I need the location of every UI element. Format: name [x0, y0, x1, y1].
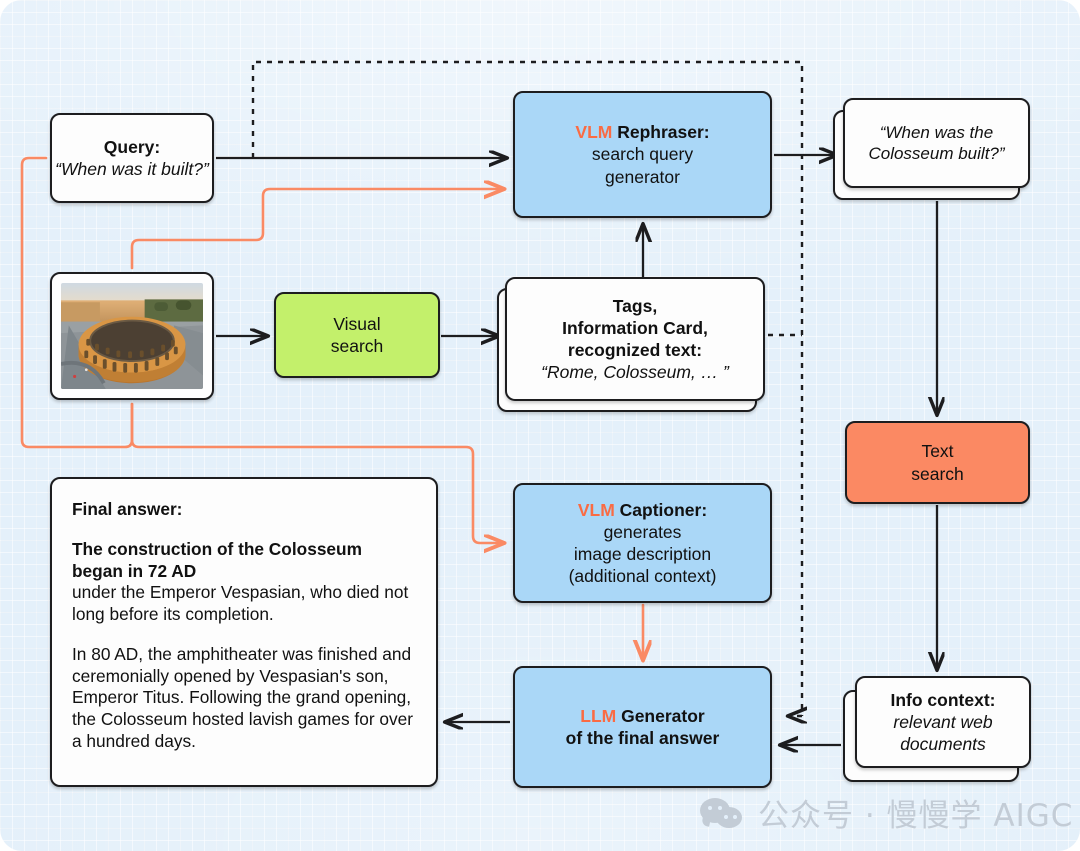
final-answer-para1-rest: under the Emperor Vespasian, who died no…	[72, 582, 416, 626]
watermark-text: 公众号 · 慢慢学 AIGC	[758, 790, 1073, 835]
info-context-label: Info context:	[857, 689, 1029, 711]
captioner-line2: generates	[569, 521, 717, 543]
visual-search-line2: search	[331, 335, 384, 357]
captioner-title: Captioner:	[615, 500, 707, 520]
rephraser-accent: VLM	[575, 122, 612, 142]
node-llm-generator[interactable]: LLM Generator of the final answer	[513, 666, 772, 788]
visual-search-line1: Visual	[331, 313, 384, 335]
node-info-context[interactable]: Info context: relevant web documents	[855, 676, 1031, 768]
tags-quote: “Rome, Colosseum, … ”	[541, 361, 729, 383]
captioner-line3: image description	[569, 543, 717, 565]
final-answer-para2: In 80 AD, the amphitheater was finished …	[72, 644, 416, 753]
node-input-image[interactable]	[50, 272, 214, 400]
query-label: Query:	[55, 136, 209, 158]
query-value: “When was it built?”	[55, 158, 209, 180]
node-vlm-rephraser[interactable]: VLM Rephraser: search query generator	[513, 91, 772, 218]
captioner-accent: VLM	[578, 500, 615, 520]
tags-line2: Information Card,	[541, 317, 729, 339]
info-context-value: relevant web documents	[857, 711, 1029, 755]
node-visual-search[interactable]: Visual search	[274, 292, 440, 378]
final-answer-heading: Final answer:	[72, 499, 416, 521]
colosseum-photo-svg	[61, 283, 203, 389]
diagram-canvas: Query: “When was it built?”	[0, 0, 1080, 851]
node-vlm-captioner[interactable]: VLM Captioner: generates image descripti…	[513, 483, 772, 603]
colosseum-photo	[61, 283, 203, 389]
generator-accent: LLM	[580, 706, 616, 726]
text-search-line1: Text	[911, 440, 964, 462]
node-query[interactable]: Query: “When was it built?”	[50, 113, 214, 203]
node-text-search[interactable]: Text search	[845, 421, 1030, 504]
generator-line2: of the final answer	[566, 727, 720, 749]
node-rephrased-query[interactable]: “When was the Colosseum built?”	[843, 98, 1030, 188]
generator-title: Generator	[616, 706, 705, 726]
node-final-answer[interactable]: Final answer: The construction of the Co…	[50, 477, 438, 787]
node-tags-information-card[interactable]: Tags, Information Card, recognized text:…	[505, 277, 765, 401]
wechat-icon	[700, 798, 746, 828]
tags-line3: recognized text:	[541, 339, 729, 361]
rephraser-line2: search query	[575, 143, 709, 165]
watermark: 公众号 · 慢慢学 AIGC	[700, 790, 1073, 835]
rephrased-query-value: “When was the Colosseum built?”	[845, 122, 1028, 165]
rephraser-title: Rephraser:	[612, 122, 709, 142]
final-answer-bold-part: The construction of the Colosseum began …	[72, 539, 416, 583]
tags-line1: Tags,	[541, 295, 729, 317]
text-search-line2: search	[911, 463, 964, 485]
rephraser-line3: generator	[575, 166, 709, 188]
captioner-line4: (additional context)	[569, 565, 717, 587]
